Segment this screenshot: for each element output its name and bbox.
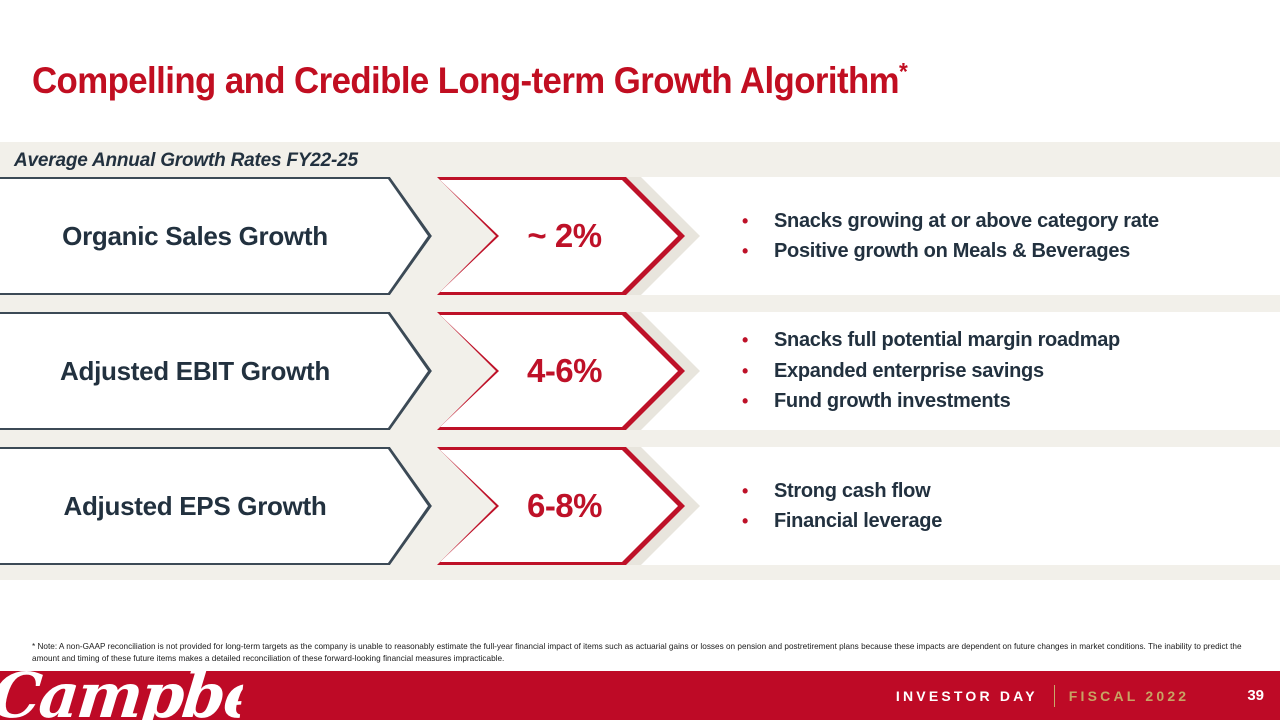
list-item: • Positive growth on Meals & Beverages	[742, 237, 1272, 265]
list-item: • Expanded enterprise savings	[742, 357, 1272, 385]
bullet-list: • Strong cash flow • Financial leverage	[742, 447, 1272, 565]
metric-label-box: Organic Sales Growth	[0, 177, 432, 295]
bullet-dot-icon: •	[742, 209, 774, 235]
bullet-dot-icon: •	[742, 509, 774, 535]
value-label: 6-8%	[477, 447, 652, 565]
list-item: • Strong cash flow	[742, 477, 1272, 505]
slide: Compelling and Credible Long-term Growth…	[0, 0, 1280, 720]
list-item: • Snacks full potential margin roadmap	[742, 326, 1272, 354]
footnote-marker: *	[899, 59, 907, 86]
metric-label: Adjusted EPS Growth	[0, 447, 390, 565]
value-label: ~ 2%	[477, 177, 652, 295]
metric-label: Adjusted EBIT Growth	[0, 312, 390, 430]
value-label: 4-6%	[477, 312, 652, 430]
footer-divider	[1054, 685, 1055, 707]
bullet-text: Fund growth investments	[774, 387, 1010, 415]
bullet-text: Snacks full potential margin roadmap	[774, 326, 1120, 354]
bullet-list: • Snacks full potential margin roadmap •…	[742, 312, 1272, 430]
bullet-text: Positive growth on Meals & Beverages	[774, 237, 1130, 265]
footnote: * Note: A non-GAAP reconciliation is not…	[32, 641, 1244, 665]
bullet-dot-icon: •	[742, 359, 774, 385]
growth-row: Adjusted EBIT Growth 4-6% • Snacks full …	[0, 312, 1280, 430]
bullet-text: Snacks growing at or above category rate	[774, 207, 1159, 235]
bullet-text: Strong cash flow	[774, 477, 930, 505]
list-item: • Snacks growing at or above category ra…	[742, 207, 1272, 235]
bullet-text: Expanded enterprise savings	[774, 357, 1044, 385]
list-item: • Financial leverage	[742, 507, 1272, 535]
investor-day-label: INVESTOR DAY	[896, 688, 1038, 704]
bullet-dot-icon: •	[742, 328, 774, 354]
bullet-dot-icon: •	[742, 479, 774, 505]
growth-row: Adjusted EPS Growth 6-8% • Strong cash f…	[0, 447, 1280, 565]
fiscal-year-label: FISCAL 2022	[1069, 688, 1190, 704]
metric-label: Organic Sales Growth	[0, 177, 390, 295]
footer-bar: Campbell's INVESTOR DAY FISCAL 2022 39	[0, 671, 1280, 720]
growth-row: Organic Sales Growth ~ 2% • Snacks growi…	[0, 177, 1280, 295]
bullet-list: • Snacks growing at or above category ra…	[742, 177, 1272, 295]
list-item: • Fund growth investments	[742, 387, 1272, 415]
campbells-logo: Campbell's	[0, 665, 245, 727]
bullet-dot-icon: •	[742, 239, 774, 265]
footer-meta: INVESTOR DAY FISCAL 2022 39	[896, 671, 1264, 720]
panel-caption: Average Annual Growth Rates FY22-25	[14, 150, 358, 172]
metric-label-box: Adjusted EPS Growth	[0, 447, 432, 565]
bullet-text: Financial leverage	[774, 507, 942, 535]
page-number: 39	[1247, 687, 1264, 704]
bullet-dot-icon: •	[742, 389, 774, 415]
page-title: Compelling and Credible Long-term Growth…	[32, 60, 907, 102]
metric-label-box: Adjusted EBIT Growth	[0, 312, 432, 430]
page-title-text: Compelling and Credible Long-term Growth…	[32, 60, 899, 101]
